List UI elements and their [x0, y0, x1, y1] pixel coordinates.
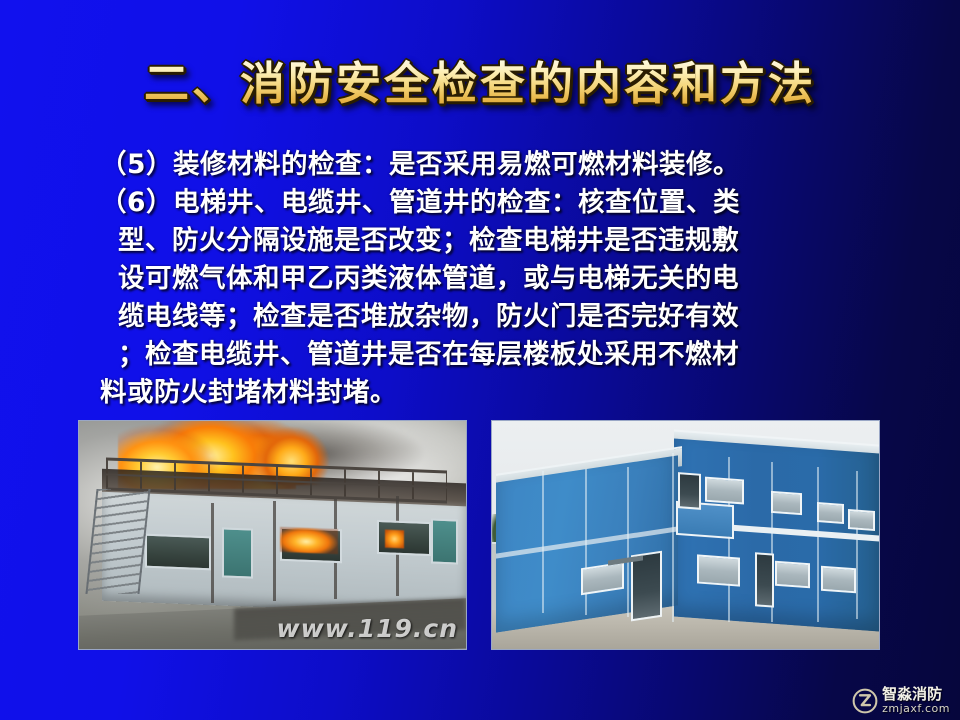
fire-flame-window	[280, 527, 338, 554]
fire-photo-watermark: www.119.cn	[277, 614, 458, 643]
body-line: 型、防火分隔设施是否改变；检查电梯井是否违规敷	[100, 222, 900, 260]
brand-logo-icon	[852, 688, 878, 714]
fire-door	[431, 518, 458, 564]
dorm-lower-window	[821, 566, 856, 593]
watermark-brand-name: 智淼消防	[882, 687, 950, 702]
dorm-photo-canvas	[492, 421, 879, 649]
body-line: 料或防火封堵材料封堵。	[100, 374, 900, 412]
body-line: ；检查电缆井、管道井是否在每层楼板处采用不燃材	[100, 336, 900, 374]
slide-title-block: 二、消防安全检查的内容和方法	[0, 58, 960, 110]
dorm-panel-seam	[542, 471, 544, 612]
dorm-upper-window	[705, 477, 744, 504]
fire-door	[222, 528, 253, 579]
dorm-upper-door	[678, 473, 701, 511]
dorm-lower-door	[755, 553, 774, 609]
dorm-panel-seam	[817, 467, 819, 622]
body-line: （5）装修材料的检查：是否采用易燃可燃材料装修。	[100, 146, 900, 184]
photo-prefab-dormitory	[491, 420, 880, 650]
watermark-url: zmjaxf.com	[882, 703, 950, 714]
body-line: （6）电梯井、电缆井、管道井的检查：核查位置、类	[100, 184, 900, 222]
watermark-text-wrap: 智淼消防 zmjaxf.com	[882, 687, 950, 714]
fire-facade-post	[211, 503, 214, 603]
dorm-lower-window	[775, 561, 810, 588]
dorm-lower-window	[697, 554, 740, 586]
body-line: 设可燃气体和甲乙丙类液体管道，或与电梯无关的电	[100, 260, 900, 298]
fire-external-staircase	[85, 489, 150, 594]
fire-facade-post	[273, 501, 276, 601]
corner-watermark: 智淼消防 zmjaxf.com	[848, 685, 954, 716]
body-line: 缆电线等；检查是否堆放杂物，防火门是否完好有效	[100, 298, 900, 336]
page-title: 二、消防安全检查的内容和方法	[144, 58, 816, 110]
dorm-panel-seam	[627, 467, 629, 617]
dorm-lower-door	[631, 551, 662, 621]
slide-body-text: （5）装修材料的检查：是否采用易燃可燃材料装修。 （6）电梯井、电缆井、管道井的…	[100, 146, 900, 412]
photo-building-fire: www.119.cn	[78, 420, 467, 650]
dorm-panel-seam	[672, 453, 674, 622]
dorm-upper-window	[848, 509, 875, 531]
dorm-upper-window	[817, 502, 844, 524]
dorm-upper-window	[771, 491, 802, 516]
fire-flame-window	[385, 530, 404, 549]
presentation-slide: 二、消防安全检查的内容和方法 （5）装修材料的检查：是否采用易燃可燃材料装修。 …	[0, 0, 960, 720]
dorm-panel-seam	[856, 471, 858, 619]
fire-window	[145, 534, 211, 570]
